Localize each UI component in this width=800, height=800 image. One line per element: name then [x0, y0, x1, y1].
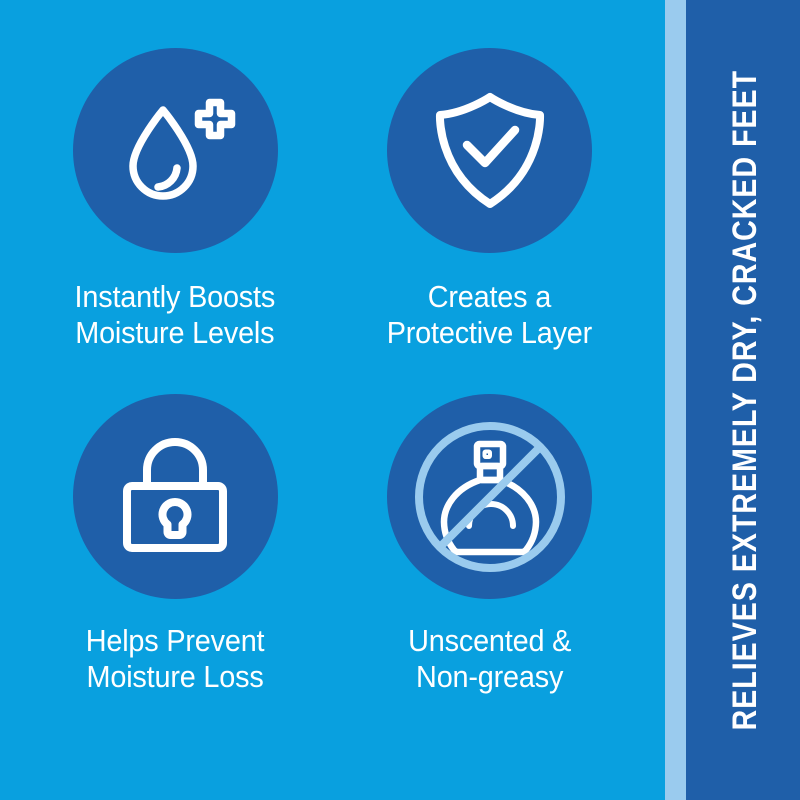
shield-check-icon: [430, 88, 550, 213]
benefit-item-moisture-lock: Helps Prevent Moisture Loss: [18, 394, 333, 740]
benefit-label-instant-moisture: Instantly Boosts Moisture Levels: [75, 279, 276, 351]
icon-circle-moisture-lock: [73, 394, 278, 599]
benefit-item-protective-layer: Creates a Protective Layer: [333, 48, 648, 394]
infographic-canvas: Instantly Boosts Moisture Levels Creates…: [0, 0, 800, 800]
accent-stripe: [665, 0, 686, 800]
padlock-icon: [116, 434, 234, 559]
benefit-item-unscented: Unscented & Non-greasy: [333, 394, 648, 740]
water-drop-plus-icon: [113, 88, 238, 213]
benefit-label-unscented: Unscented & Non-greasy: [408, 623, 571, 695]
benefits-grid: Instantly Boosts Moisture Levels Creates…: [0, 0, 665, 800]
benefit-item-instant-moisture: Instantly Boosts Moisture Levels: [18, 48, 333, 394]
side-banner: RELIEVES EXTREMELY DRY, CRACKED FEET: [686, 0, 800, 800]
icon-circle-instant-moisture: [73, 48, 278, 253]
icon-circle-protective-layer: [387, 48, 592, 253]
icon-circle-unscented: [387, 394, 592, 599]
no-perfume-bottle-icon: [411, 418, 569, 576]
benefit-label-moisture-lock: Helps Prevent Moisture Loss: [86, 623, 265, 695]
benefit-label-protective-layer: Creates a Protective Layer: [387, 279, 592, 351]
side-banner-text: RELIEVES EXTREMELY DRY, CRACKED FEET: [722, 70, 765, 731]
